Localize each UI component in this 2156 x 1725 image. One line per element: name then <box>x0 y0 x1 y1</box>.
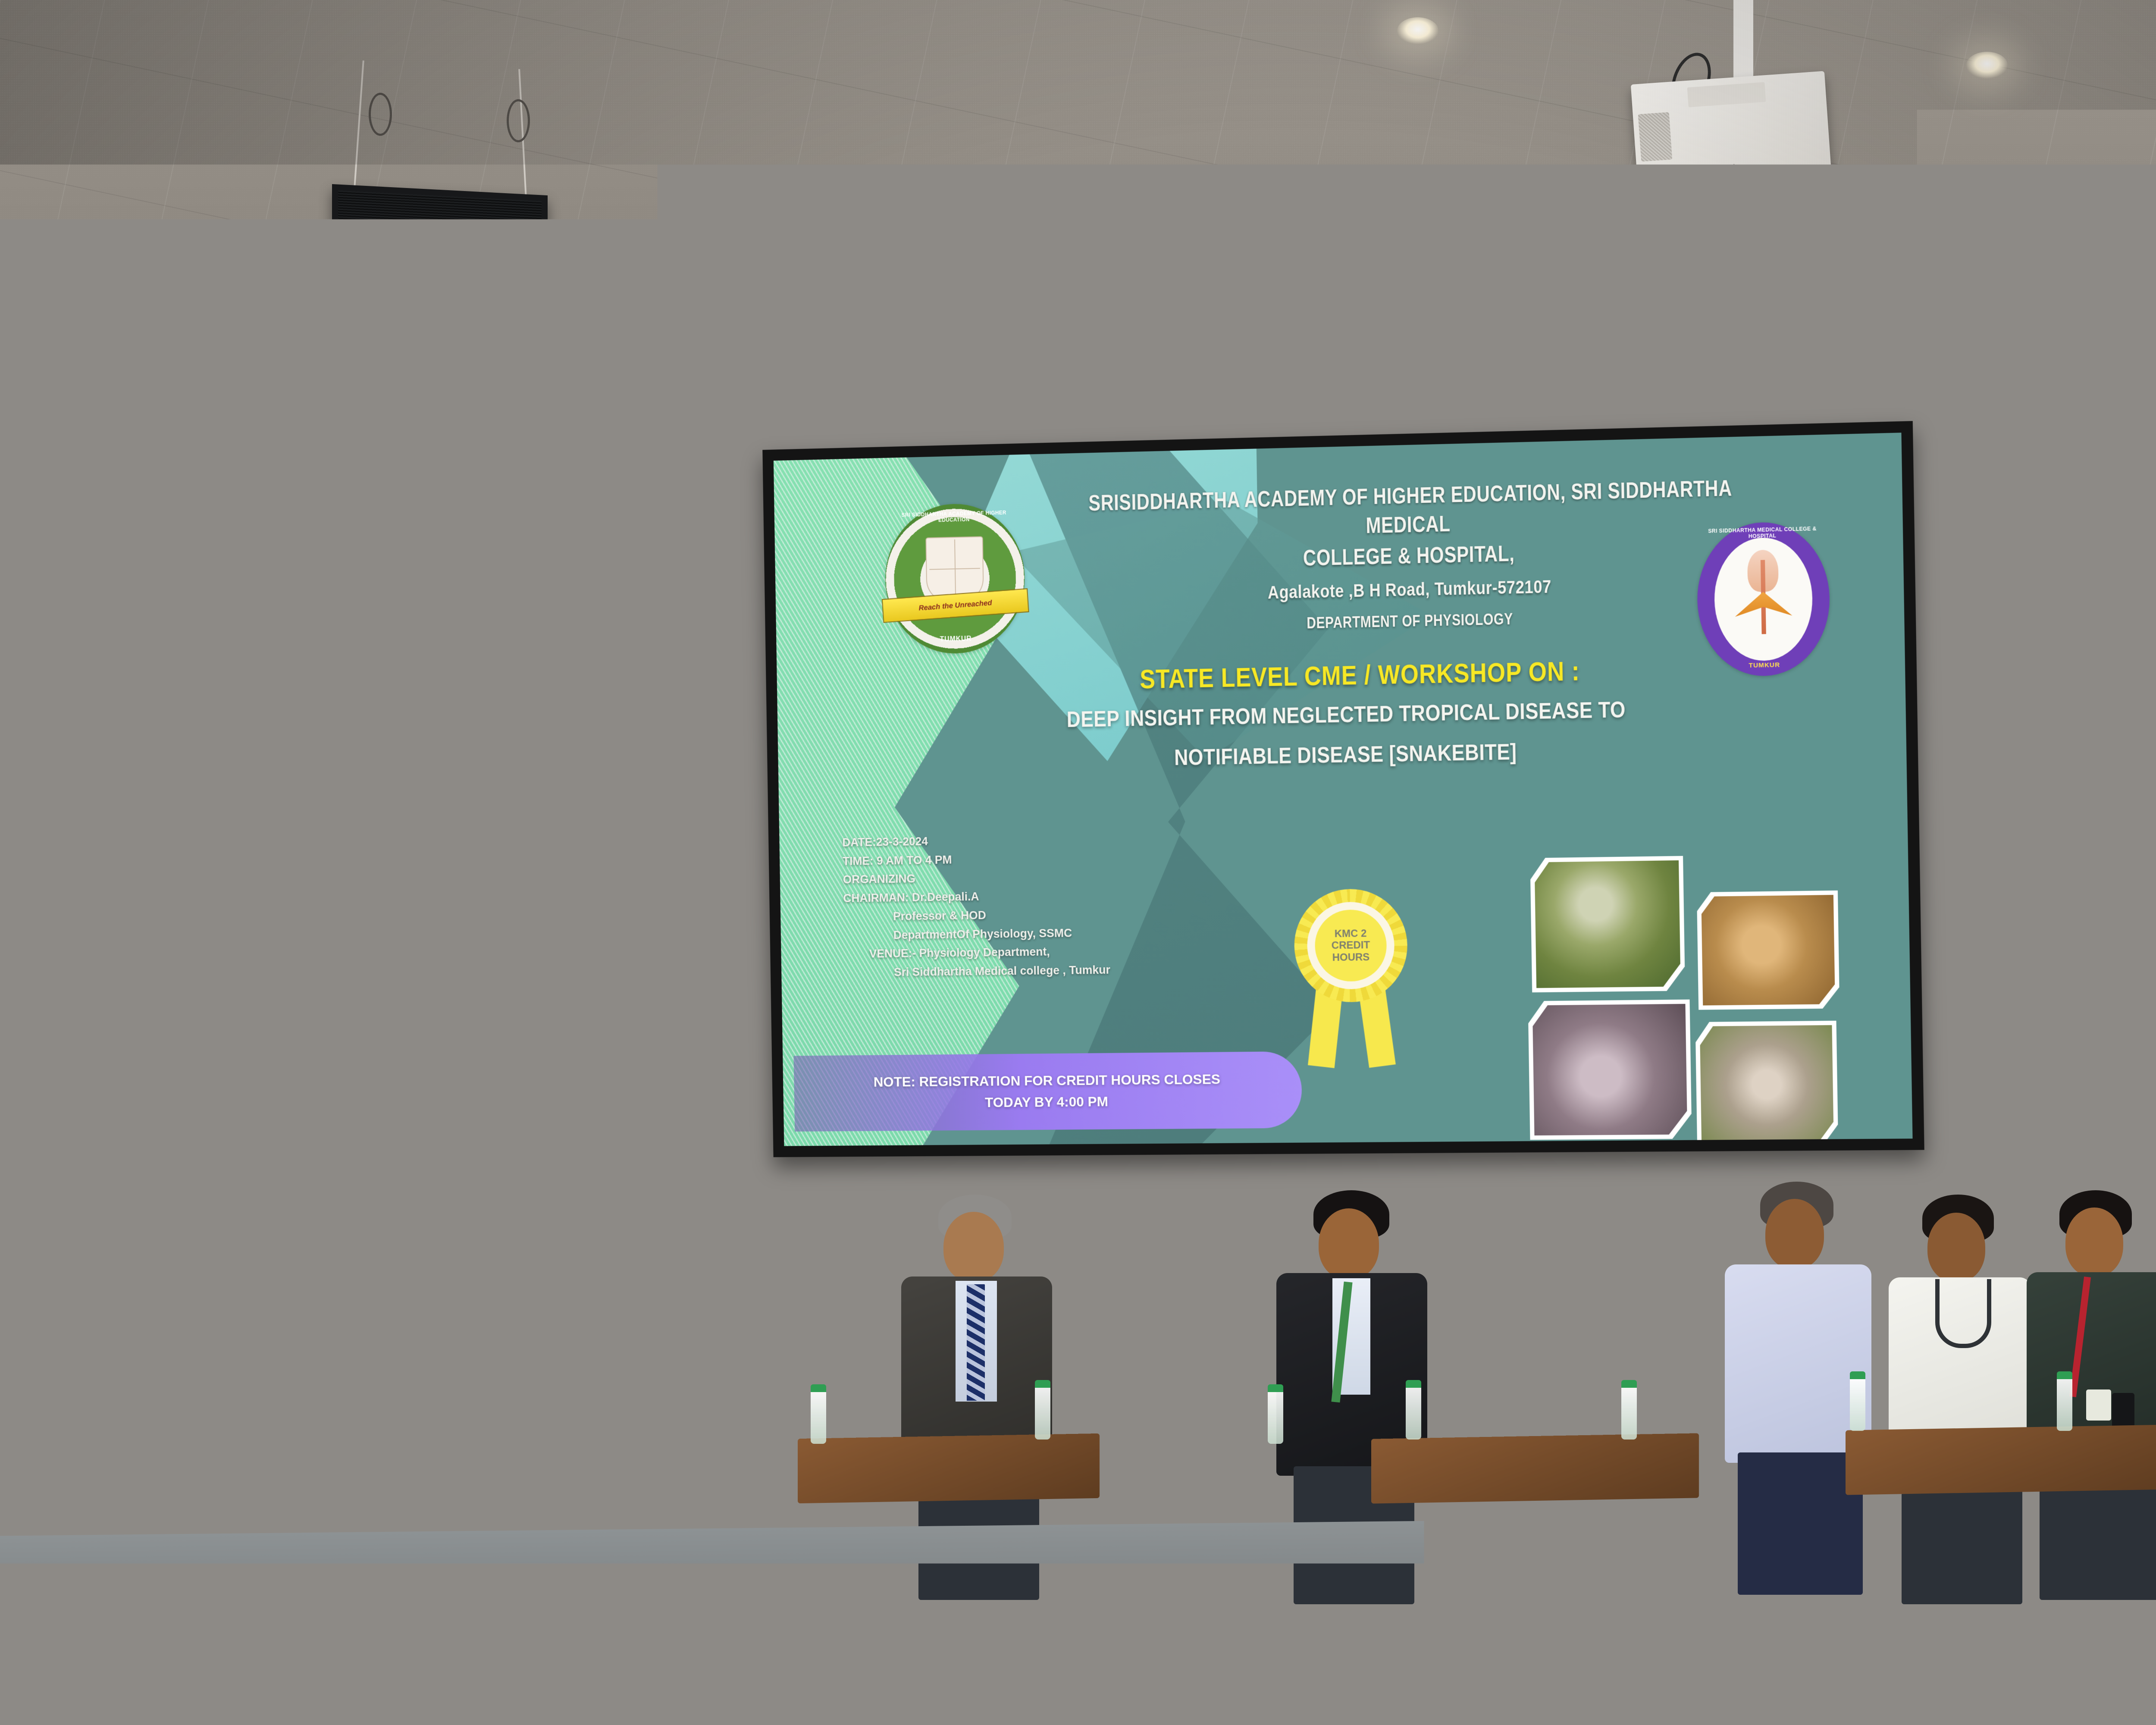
potted-plant <box>748 1449 929 1725</box>
palm-foliage <box>1181 1458 1362 1660</box>
audience-head <box>1811 1678 1897 1725</box>
water-bottle[interactable] <box>1406 1380 1421 1440</box>
event-venue-line-2: Sri Siddhartha Medical college , Tumkur <box>844 961 1111 982</box>
snake-photo-pit-viper <box>1695 1021 1839 1146</box>
head <box>2065 1207 2123 1276</box>
camera-pole <box>444 772 454 1147</box>
projector-brand-label: Panasonic <box>1701 163 1740 174</box>
snake-photo-image <box>1700 1025 1834 1144</box>
head <box>943 1212 1004 1282</box>
hanging-speaker-left-top: SONODYNE <box>332 184 548 277</box>
speaker-rigging-hook <box>369 93 392 136</box>
potted-plant <box>1398 1449 1579 1725</box>
palm-foliage <box>965 1458 1146 1660</box>
palm-foliage <box>1398 1458 1579 1660</box>
plant-pot <box>2105 1634 2156 1725</box>
head <box>745 1216 803 1284</box>
snake-photo-image <box>1701 895 1835 1005</box>
registration-note-banner: NOTE: REGISTRATION FOR CREDIT HOURS CLOS… <box>793 1051 1302 1132</box>
palm-foliage <box>1614 1458 1795 1660</box>
event-topic: DEEP INSIGHT FROM NEGLECTED TROPICAL DIS… <box>903 687 1796 782</box>
snake-photo-collage <box>1526 853 1882 1146</box>
badge-line-2: CREDIT <box>1332 939 1370 951</box>
chairman-designation: Professor & HOD <box>843 905 1110 927</box>
snake-photo-image <box>1532 1004 1688 1135</box>
stethoscope-icon <box>1935 1279 1991 1348</box>
palm-foliage <box>1830 1458 2012 1660</box>
auditorium-scene: Panasonic SONODYNE SONODYNE SONODYNE SON… <box>0 0 2156 1725</box>
potted-plant <box>1614 1449 1795 1725</box>
head <box>1126 1216 1183 1284</box>
plant-pot <box>374 1634 439 1725</box>
id-badge <box>2086 1389 2111 1421</box>
note-line-1: NOTE: REGISTRATION FOR CREDIT HOURS CLOS… <box>873 1069 1220 1093</box>
potted-plant <box>532 1449 713 1725</box>
ceiling-spotlight <box>1397 17 1438 44</box>
speaker-rigging-hook <box>507 99 530 142</box>
water-bottle[interactable] <box>1850 1371 1865 1431</box>
institution-address: Agalakote ,B H Road, Tumkur-572107 <box>1066 571 1758 609</box>
water-bottle[interactable] <box>1268 1384 1283 1444</box>
striped-necktie <box>967 1284 985 1401</box>
id-badge <box>1147 1397 1173 1430</box>
potted-plant <box>99 1449 280 1725</box>
ceiling-projector: Panasonic <box>1631 71 1832 192</box>
snake-photo-image <box>1535 860 1681 988</box>
snake-photo-saw-scaled-viper <box>1697 891 1839 1010</box>
palm-foliage <box>2046 1458 2156 1660</box>
plant-pot <box>806 1634 871 1725</box>
credit-hours-badge: KMC 2 CREDIT HOURS <box>1288 886 1416 1068</box>
palm-foliage <box>99 1458 280 1660</box>
audience-head <box>1488 1691 1574 1725</box>
note-line-2: TODAY BY 4:00 PM <box>985 1091 1109 1113</box>
head <box>1609 1217 1667 1285</box>
palm-foliage <box>532 1458 713 1660</box>
palm-foliage <box>748 1458 929 1660</box>
projection-screen-frame: SRI SIDDHARTHA ACADEMY OF HIGHER EDUCATI… <box>762 421 1924 1157</box>
audience-head <box>155 1700 241 1725</box>
head <box>279 1119 334 1184</box>
chair <box>1414 1276 1557 1423</box>
event-details: DATE:23-3-2024 TIME: 9 AM TO 4 PM ORGANI… <box>842 830 1110 983</box>
speaker-grille <box>338 273 542 379</box>
potted-plant <box>2046 1449 2156 1725</box>
hanging-speaker-left-bottom: SONODYNE <box>332 266 548 385</box>
standing-woman-in-saree <box>0 1087 95 1604</box>
badge-line-1: KMC 2 <box>1335 928 1367 940</box>
water-bottle[interactable] <box>1621 1380 1637 1440</box>
potted-plant <box>316 1449 497 1725</box>
plant-pot <box>1239 1634 1304 1725</box>
badge-line-3: HOURS <box>1332 951 1369 963</box>
potted-plant <box>965 1449 1146 1725</box>
snake-photo-russells-viper <box>1528 1000 1692 1140</box>
event-venue: VENUE:- Physiology Department, <box>844 942 1110 964</box>
sahe-logo-arc-text: SRI SIDDHARTHA ACADEMY OF HIGHER EDUCATI… <box>888 509 1020 524</box>
water-bottle[interactable] <box>811 1384 826 1444</box>
water-bottle[interactable] <box>2057 1371 2072 1431</box>
chair <box>539 1289 681 1432</box>
slide-header: SRISIDDHARTHA ACADEMY OF HIGHER EDUCATIO… <box>1065 478 1758 637</box>
head <box>1319 1208 1379 1279</box>
head <box>1927 1213 1985 1282</box>
head <box>1765 1199 1824 1269</box>
plant-pot <box>1889 1634 1953 1725</box>
head <box>9 1104 60 1169</box>
plant-pot <box>590 1634 655 1725</box>
projector-lens <box>1638 112 1672 162</box>
ceiling-spotlight <box>1966 52 2008 78</box>
audience-head <box>1608 1697 1695 1725</box>
sahe-logo-motto: Reach the Unreached <box>882 588 1029 623</box>
snake-photo-cobra <box>1530 856 1685 993</box>
chairman-department: DepartmentOf Physiology, SSMC <box>843 923 1110 945</box>
potted-plant <box>1181 1449 1362 1725</box>
projector-ports <box>1687 82 1766 107</box>
wooden-chair <box>440 1143 565 1255</box>
projected-slide: SRI SIDDHARTHA ACADEMY OF HIGHER EDUCATI… <box>774 433 1913 1146</box>
palm-foliage <box>316 1458 497 1660</box>
mobile-phone[interactable] <box>2112 1393 2134 1430</box>
water-bottle[interactable] <box>1035 1380 1050 1440</box>
plant-pot <box>1023 1634 1087 1725</box>
